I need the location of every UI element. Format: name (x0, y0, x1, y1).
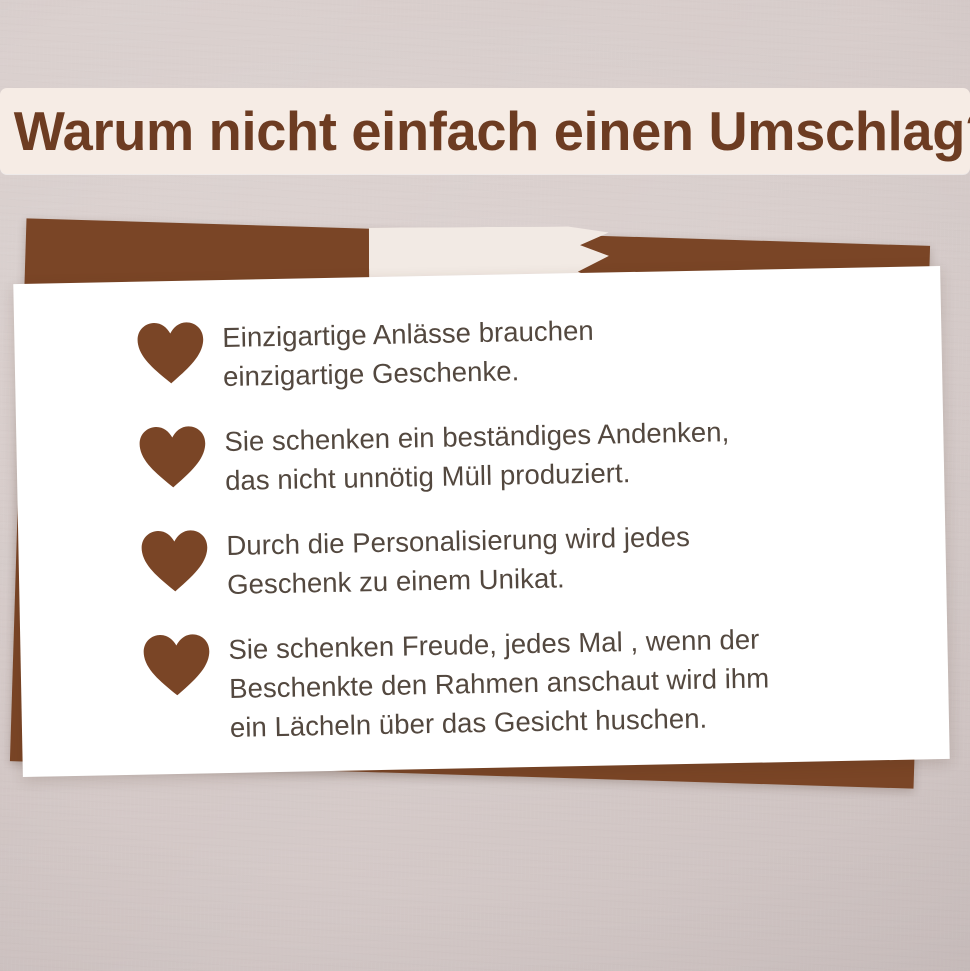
heart-icon (142, 633, 211, 696)
list-item-text: Sie schenken Freude, jedes Mal , wenn de… (228, 619, 770, 747)
poster-canvas: Warum nicht einfach einen Umschlag? Einz… (0, 0, 970, 971)
heart-icon (136, 321, 205, 384)
heart-icon (140, 529, 209, 592)
list-item: Sie schenken Freude, jedes Mal , wenn de… (142, 617, 904, 749)
list-item: Sie schenken ein beständiges Andenken, d… (138, 409, 899, 502)
title-banner: Warum nicht einfach einen Umschlag? (0, 88, 970, 174)
list-item: Durch die Personalisierung wird jedes Ge… (140, 513, 901, 606)
list-item-text: Einzigartige Anlässe brauchen einzigarti… (222, 311, 595, 396)
list-item-text: Sie schenken ein beständiges Andenken, d… (224, 412, 730, 500)
list-item-text: Durch die Personalisierung wird jedes Ge… (226, 517, 691, 604)
page-title: Warum nicht einfach einen Umschlag? (0, 103, 955, 159)
content-card: Einzigartige Anlässe brauchen einzigarti… (13, 266, 949, 777)
list-item: Einzigartige Anlässe brauchen einzigarti… (136, 305, 897, 398)
benefit-list: Einzigartige Anlässe brauchen einzigarti… (136, 305, 904, 749)
heart-icon (138, 425, 207, 488)
